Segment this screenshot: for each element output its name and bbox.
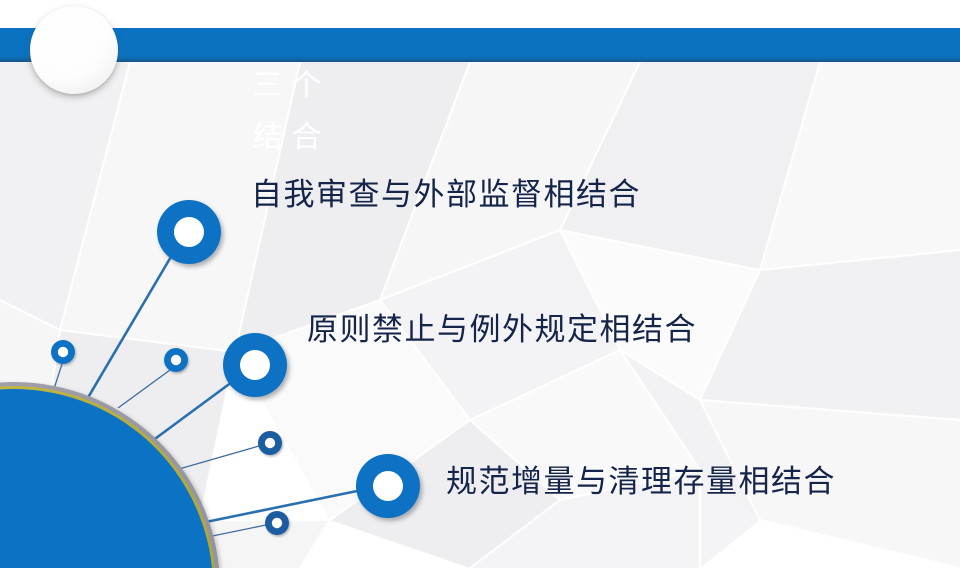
ring-marker-small-2[interactable] [164,348,188,372]
ring-marker-small-3[interactable] [258,431,282,455]
ring-marker-small-4[interactable] [265,511,289,535]
headline-text-2: 原则禁止与例外规定相结合 [307,310,697,350]
ring-marker-small-1[interactable] [51,340,75,364]
ring-marker-large-1[interactable] [157,200,221,264]
headline-text-3: 规范增量与清理存量相结合 [446,462,836,502]
connector-to-large-1 [86,255,172,401]
hub-semicircle [0,382,220,568]
slide-canvas: 三个 结合 自我审查与外部监督相结合 原则禁止与例外规定相结合 规范增量与清理存… [0,0,960,568]
ring-marker-large-3[interactable] [356,454,420,518]
ring-marker-large-2[interactable] [223,333,287,397]
headline-text-1: 自我审查与外部监督相结合 [251,175,641,215]
